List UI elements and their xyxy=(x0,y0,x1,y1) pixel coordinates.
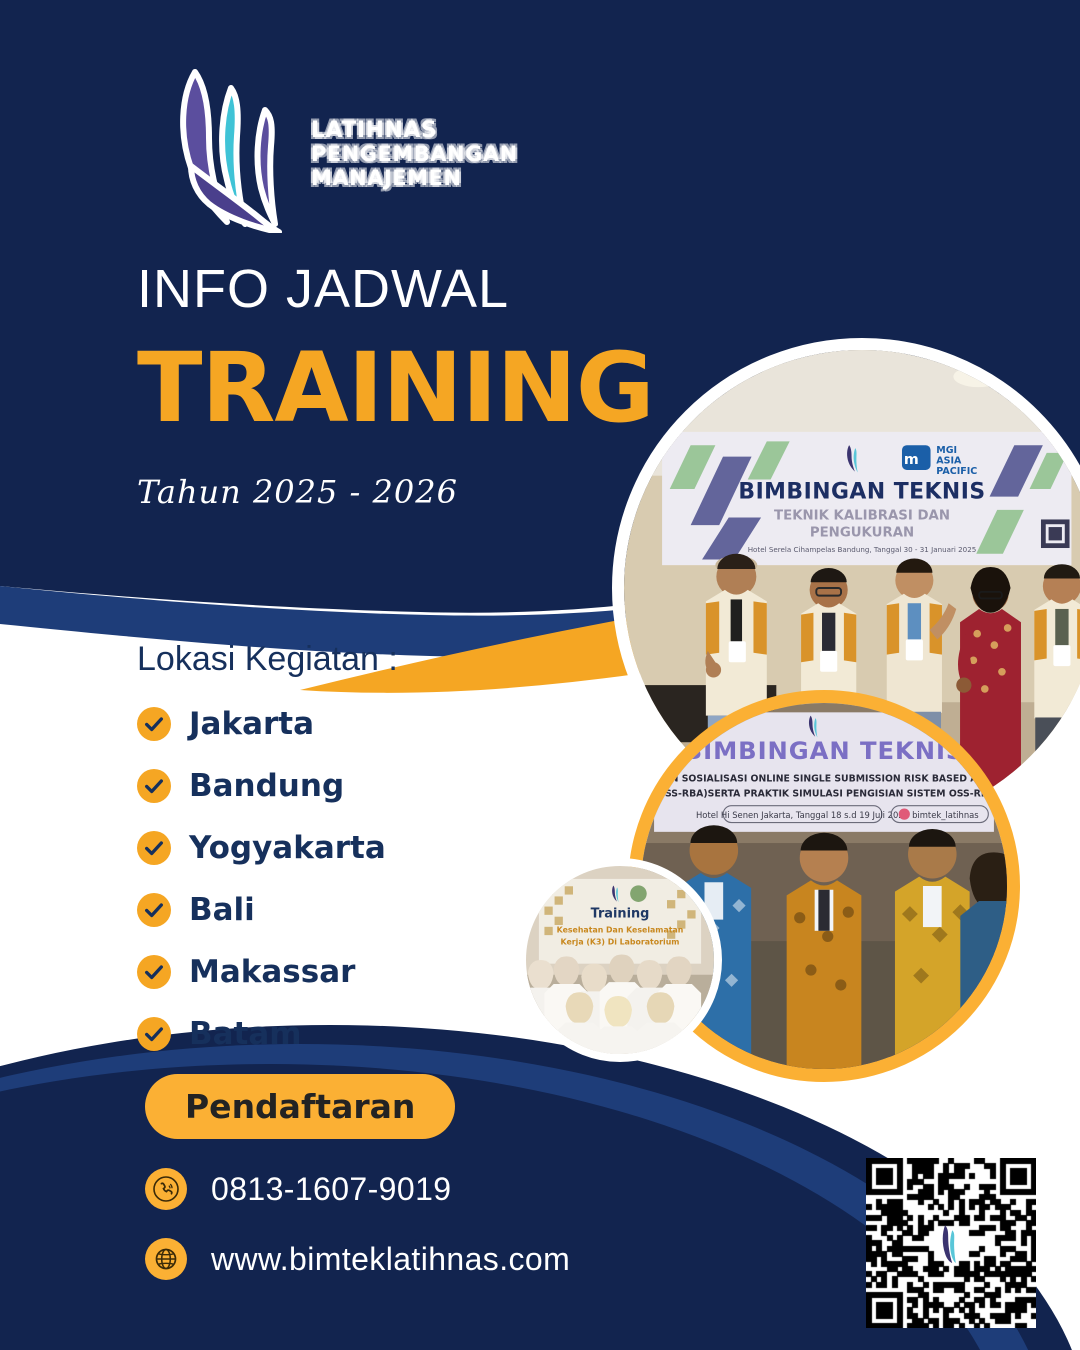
list-item: Bali xyxy=(137,879,567,941)
svg-text:PENGUKURAN: PENGUKURAN xyxy=(810,526,914,541)
latihnas-logo-mark xyxy=(165,58,305,233)
svg-text:Training: Training xyxy=(591,907,650,922)
check-icon xyxy=(137,831,171,865)
list-item: Batam xyxy=(137,1003,567,1065)
svg-text:(OSS-RBA)SERTA PRAKTIK SIMULAS: (OSS-RBA)SERTA PRAKTIK SIMULASI PENGISIA… xyxy=(653,788,996,799)
qr-code[interactable] xyxy=(866,1158,1036,1328)
svg-text:BIMBINGAN TEKNIS: BIMBINGAN TEKNIS xyxy=(738,480,985,505)
svg-text:ASIA: ASIA xyxy=(936,455,962,466)
list-item: Yogyakarta xyxy=(137,817,567,879)
phone-number: 0813-1607-9019 xyxy=(211,1171,451,1208)
website-url: www.bimteklatihnas.com xyxy=(211,1241,570,1278)
svg-text:MGI: MGI xyxy=(936,445,957,456)
list-item: Jakarta xyxy=(137,693,567,755)
photo-training-k3-laboratorium: Training Kesehatan Dan Keselamatan Kerja… xyxy=(518,858,722,1062)
list-item: Makassar xyxy=(137,941,567,1003)
contact-phone[interactable]: 0813-1607-9019 xyxy=(145,1168,451,1210)
check-icon xyxy=(137,955,171,989)
svg-text:m: m xyxy=(904,452,919,468)
check-icon xyxy=(137,893,171,927)
svg-text:Hotel Serela Cihampelas Bandun: Hotel Serela Cihampelas Bandung, Tanggal… xyxy=(748,545,977,554)
svg-text:TEKNIK KALIBRASI DAN: TEKNIK KALIBRASI DAN xyxy=(774,508,950,523)
svg-text:BIMBINGAN TEKNIS: BIMBINGAN TEKNIS xyxy=(684,736,965,765)
locations-block: Lokasi Kegiatan : Jakarta Bandung Yogyak… xyxy=(137,640,567,1065)
location-label: Yogyakarta xyxy=(189,830,386,866)
headline-kicker: INFO JADWAL xyxy=(137,262,737,316)
svg-text:Hotel Hi Senen Jakarta, Tangga: Hotel Hi Senen Jakarta, Tanggal 18 s.d 1… xyxy=(696,810,909,820)
check-icon xyxy=(137,707,171,741)
list-item: Bandung xyxy=(137,755,567,817)
location-label: Batam xyxy=(189,1016,302,1052)
svg-text:bimtek_latihnas: bimtek_latihnas xyxy=(912,810,979,820)
svg-text:Kesehatan Dan Keselamatan: Kesehatan Dan Keselamatan xyxy=(557,925,684,934)
location-label: Bandung xyxy=(189,768,344,804)
check-icon xyxy=(137,1017,171,1051)
pendaftaran-button[interactable]: Pendaftaran xyxy=(145,1074,455,1139)
svg-text:PACIFIC: PACIFIC xyxy=(936,466,977,477)
brand-logo: LATIHNAS PENGEMBANGAN MANAJEMEN xyxy=(165,55,505,235)
svg-text:Kerja (K3) Di Laboratorium: Kerja (K3) Di Laboratorium xyxy=(561,937,680,946)
contact-website[interactable]: www.bimteklatihnas.com xyxy=(145,1238,570,1280)
latihnas-logo-mark xyxy=(934,1223,968,1263)
logo-line-1: LATIHNAS xyxy=(311,118,518,143)
phone-icon xyxy=(145,1168,187,1210)
logo-line-3: MANAJEMEN xyxy=(311,167,518,191)
location-label: Makassar xyxy=(189,954,355,990)
locations-heading: Lokasi Kegiatan : xyxy=(137,640,567,679)
location-label: Jakarta xyxy=(189,706,314,742)
svg-text:PELATIHAN SOSIALISASI ONLINE S: PELATIHAN SOSIALISASI ONLINE SINGLE SUBM… xyxy=(641,773,1007,784)
globe-icon xyxy=(145,1238,187,1280)
location-label: Bali xyxy=(189,892,255,928)
poster-root: LATIHNAS PENGEMBANGAN MANAJEMEN INFO JAD… xyxy=(0,0,1080,1350)
check-icon xyxy=(137,769,171,803)
logo-line-2: PENGEMBANGAN xyxy=(311,143,518,167)
